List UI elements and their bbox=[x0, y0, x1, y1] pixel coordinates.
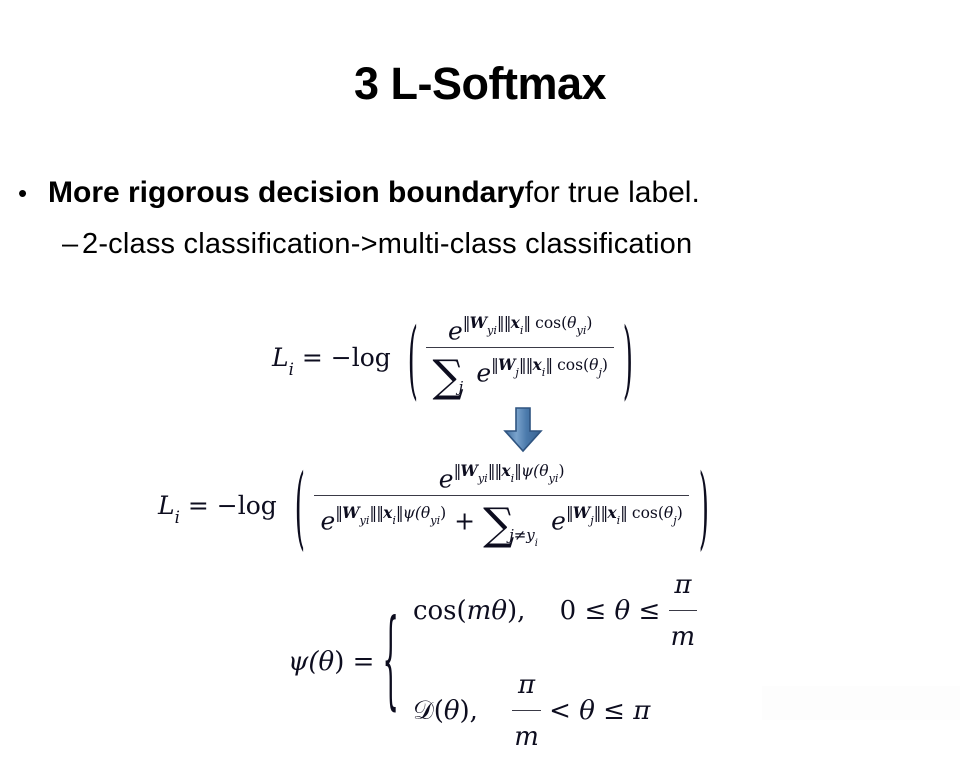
formula-softmax-loss: Li = −log (e‖Wyi‖‖xi‖ cos(θyi)∑j e‖Wj‖‖x… bbox=[272, 316, 642, 403]
f3c1-frac-num: π bbox=[669, 561, 698, 611]
f3c2-le: ≤ bbox=[603, 696, 625, 726]
f2d1-W: W bbox=[342, 503, 359, 522]
formula3-case-rows: cos(mθ), 0 ≤ θ ≤ πm 𝒟(θ), πm < θ ≤ π bbox=[413, 562, 697, 762]
f3c2-lt: < bbox=[549, 696, 571, 726]
formula3-cases: ψ(θ) = { cos(mθ), 0 ≤ θ ≤ πm 𝒟(θ), πm < … bbox=[288, 562, 697, 762]
bullet-primary-bold-text: More rigorous decision boundary bbox=[48, 172, 525, 214]
bullet-primary-normal-text: for true label. bbox=[525, 172, 700, 214]
f1d-x-sub: i bbox=[542, 366, 546, 379]
formula3-case-1: cos(mθ), 0 ≤ θ ≤ πm bbox=[413, 562, 697, 662]
f1n-norm3: ‖ bbox=[523, 314, 530, 332]
f1n-exponent: ‖Wyi‖‖xi‖ cos(θyi) bbox=[463, 314, 593, 332]
formula2-L: L bbox=[158, 491, 175, 520]
f3-close: ) bbox=[334, 647, 344, 677]
f2d1-theta-sub: y bbox=[430, 514, 436, 527]
f1n-e: e bbox=[448, 316, 463, 345]
f3c2-frac-den: m bbox=[512, 711, 541, 761]
f2d1-W-subsub: i bbox=[366, 514, 370, 527]
formula1-log: log bbox=[352, 343, 391, 372]
formula2-log: log bbox=[238, 491, 277, 520]
f3c1-zero: 0 bbox=[560, 596, 577, 626]
f2d-sum-neq: ≠ bbox=[514, 526, 527, 544]
f3c1-fraction: πm bbox=[669, 561, 698, 661]
formula1-fraction: e‖Wyi‖‖xi‖ cos(θyi)∑j e‖Wj‖‖xi‖ cos(θj) bbox=[426, 315, 613, 402]
f2d1-psi-close: ) bbox=[440, 504, 446, 522]
bullet-list: • More rigorous decision boundary for tr… bbox=[0, 172, 960, 266]
f3c1-cos: cos( bbox=[413, 596, 467, 626]
formula1-L: L bbox=[272, 343, 289, 372]
f3c2-D: 𝒟( bbox=[413, 696, 444, 726]
f3c2-cond-theta: θ bbox=[579, 696, 595, 726]
f1d-e: e bbox=[476, 358, 491, 387]
f1n-W-subsub: i bbox=[493, 324, 497, 337]
f1d-W-sub: j bbox=[515, 366, 518, 379]
f2d1-theta-subsub: i bbox=[437, 514, 441, 527]
f1n-norm1: ‖ bbox=[463, 314, 470, 332]
f3c1-le2: ≤ bbox=[638, 596, 660, 626]
f2n-W-subsub: i bbox=[484, 472, 488, 485]
f3c1-cond-theta: θ bbox=[615, 596, 631, 626]
f2d1-x-sub: i bbox=[392, 514, 396, 527]
f2n-psi: ψ( bbox=[521, 462, 539, 480]
formula3-case-2: 𝒟(θ), πm < θ ≤ π bbox=[413, 662, 697, 762]
f2d-sum-subscript: j≠yi bbox=[509, 526, 538, 544]
f1d-cos-close: ) bbox=[602, 356, 608, 374]
f1n-cos-close: ) bbox=[586, 314, 592, 332]
f2d2-e: e bbox=[551, 506, 566, 535]
f1d-x: x bbox=[532, 355, 541, 374]
f3c1-theta: θ bbox=[491, 596, 507, 626]
f2d2-x-sub: i bbox=[617, 514, 621, 527]
f3c2-close: ), bbox=[460, 696, 478, 726]
f2n-exponent: ‖Wyi‖‖xi‖ψ(θyi) bbox=[454, 462, 565, 480]
f3-theta: θ bbox=[319, 647, 335, 677]
formula-psi-definition: ψ(θ) = { cos(mθ), 0 ≤ θ ≤ πm 𝒟(θ), πm < … bbox=[288, 562, 697, 762]
f2d-sum-i: i bbox=[535, 538, 538, 549]
formula1-numerator: e‖Wyi‖‖xi‖ cos(θyi) bbox=[426, 315, 613, 348]
f1n-norm2: ‖‖ bbox=[497, 314, 511, 332]
formula1-L-subscript: i bbox=[289, 360, 294, 379]
f3c1-close: ), bbox=[507, 596, 525, 626]
f2n-theta: θ bbox=[539, 462, 548, 480]
f1n-x: x bbox=[511, 313, 520, 332]
bullet-sub-text: 2-class classification->multi-class clas… bbox=[82, 222, 692, 266]
f2d-plus: + bbox=[454, 506, 475, 535]
f3c2-fraction: πm bbox=[512, 661, 541, 761]
f2d2-norm3: ‖ bbox=[620, 504, 627, 522]
formula2-L-subscript: i bbox=[175, 508, 180, 527]
f2d-sum-y: y bbox=[526, 526, 534, 544]
f1d-sum-sub: j bbox=[458, 378, 463, 396]
f2d1-x: x bbox=[383, 503, 392, 522]
f2n-theta-sub: y bbox=[549, 472, 555, 485]
f2d1-theta: θ bbox=[421, 504, 430, 522]
formula1-equals: = bbox=[302, 343, 323, 372]
f1d-norm3: ‖ bbox=[545, 356, 552, 374]
f2d2-theta: θ bbox=[664, 504, 673, 522]
dash-marker-icon: – bbox=[62, 222, 82, 266]
formula2-numerator: e‖Wyi‖‖xi‖ψ(θyi) bbox=[314, 463, 688, 496]
f1d-W: W bbox=[498, 355, 515, 374]
f3c2-pi: π bbox=[633, 696, 650, 726]
formula2-fraction: e‖Wyi‖‖xi‖ψ(θyi)e‖Wyi‖‖xi‖ψ(θyi) + ∑j≠yi… bbox=[314, 463, 688, 550]
formula3-brace: { bbox=[382, 601, 399, 724]
formula1-paren-close: ) bbox=[623, 310, 633, 409]
f1d-theta-sub: j bbox=[598, 366, 601, 379]
f3c1-m: m bbox=[467, 596, 492, 626]
formula3-lhs: ψ(θ) = bbox=[288, 647, 374, 677]
bullet-item-primary: • More rigorous decision boundary for tr… bbox=[0, 172, 960, 214]
f2n-psi-close: ) bbox=[558, 462, 564, 480]
f1d-norm1: ‖ bbox=[491, 356, 498, 374]
bullet-marker-icon: • bbox=[18, 172, 48, 214]
f3c2-theta: θ bbox=[444, 696, 460, 726]
formula3-case-2-condition: πm < θ ≤ π bbox=[512, 662, 650, 762]
f2d2-W: W bbox=[573, 503, 590, 522]
f2d2-W-sub: j bbox=[590, 514, 593, 527]
f1d-exponent: ‖Wj‖‖xi‖ cos(θj) bbox=[491, 356, 608, 374]
formula2-equals: = bbox=[188, 491, 209, 520]
f3c1-frac-den: m bbox=[669, 611, 698, 661]
f1n-theta-sub: y bbox=[577, 324, 583, 337]
f2n-x: x bbox=[501, 461, 510, 480]
f1n-W: W bbox=[470, 313, 487, 332]
formula-lsoftmax-loss: Li = −log (e‖Wyi‖‖xi‖ψ(θyi)e‖Wyi‖‖xi‖ψ(θ… bbox=[158, 464, 719, 551]
f1n-cos: cos( bbox=[535, 314, 567, 332]
f2d1-exponent: ‖Wyi‖‖xi‖ψ(θyi) bbox=[335, 504, 446, 522]
formula1-paren-open: ( bbox=[407, 310, 417, 409]
f3c1-le1: ≤ bbox=[584, 596, 606, 626]
f2n-x-sub: i bbox=[511, 472, 515, 485]
formula1-denominator: ∑j e‖Wj‖‖xi‖ cos(θj) bbox=[426, 348, 613, 402]
f2d1-W-sub: y bbox=[360, 514, 366, 527]
f3-equals: = bbox=[353, 647, 375, 677]
f2d1-norm2: ‖‖ bbox=[369, 504, 383, 522]
f2n-e: e bbox=[439, 464, 454, 493]
formula2-denominator: e‖Wyi‖‖xi‖ψ(θyi) + ∑j≠yi e‖Wj‖‖xi‖ cos(θ… bbox=[314, 496, 688, 550]
down-arrow-icon bbox=[503, 407, 543, 453]
formula2-paren-close: ) bbox=[699, 455, 709, 559]
f1n-theta-subsub: i bbox=[583, 324, 587, 337]
f2n-theta-subsub: i bbox=[555, 472, 559, 485]
f2d2-theta-sub: j bbox=[673, 514, 676, 527]
f1d-cos: cos( bbox=[557, 356, 589, 374]
formula2-minus: − bbox=[217, 491, 238, 520]
f1n-theta: θ bbox=[567, 314, 576, 332]
f2d2-cos-close: ) bbox=[677, 504, 683, 522]
f3c2-frac-num: π bbox=[512, 661, 541, 711]
f2d1-e: e bbox=[320, 506, 335, 535]
f2n-norm2: ‖‖ bbox=[488, 462, 502, 480]
f2d2-x: x bbox=[607, 503, 616, 522]
f2n-W: W bbox=[460, 461, 477, 480]
f2d2-exponent: ‖Wj‖‖xi‖ cos(θj) bbox=[566, 504, 683, 522]
footer-band bbox=[762, 686, 960, 720]
f2d2-norm2: ‖‖ bbox=[594, 504, 608, 522]
f2d2-norm1: ‖ bbox=[566, 504, 573, 522]
formula3-case-1-condition: 0 ≤ θ ≤ πm bbox=[560, 562, 698, 662]
f1n-x-sub: i bbox=[520, 324, 524, 337]
f2d1-norm3: ‖ bbox=[396, 504, 403, 522]
f3-psi: ψ( bbox=[288, 647, 319, 677]
f2d1-psi: ψ( bbox=[403, 504, 421, 522]
f2n-norm3: ‖ bbox=[514, 462, 521, 480]
page-title: 3 L-Softmax bbox=[0, 58, 960, 110]
bullet-item-sub: – 2-class classification->multi-class cl… bbox=[0, 222, 960, 266]
formula1-minus: − bbox=[331, 343, 352, 372]
formula2-paren-open: ( bbox=[294, 455, 304, 559]
f1d-norm2: ‖‖ bbox=[519, 356, 533, 374]
f2d2-cos: cos( bbox=[632, 504, 664, 522]
